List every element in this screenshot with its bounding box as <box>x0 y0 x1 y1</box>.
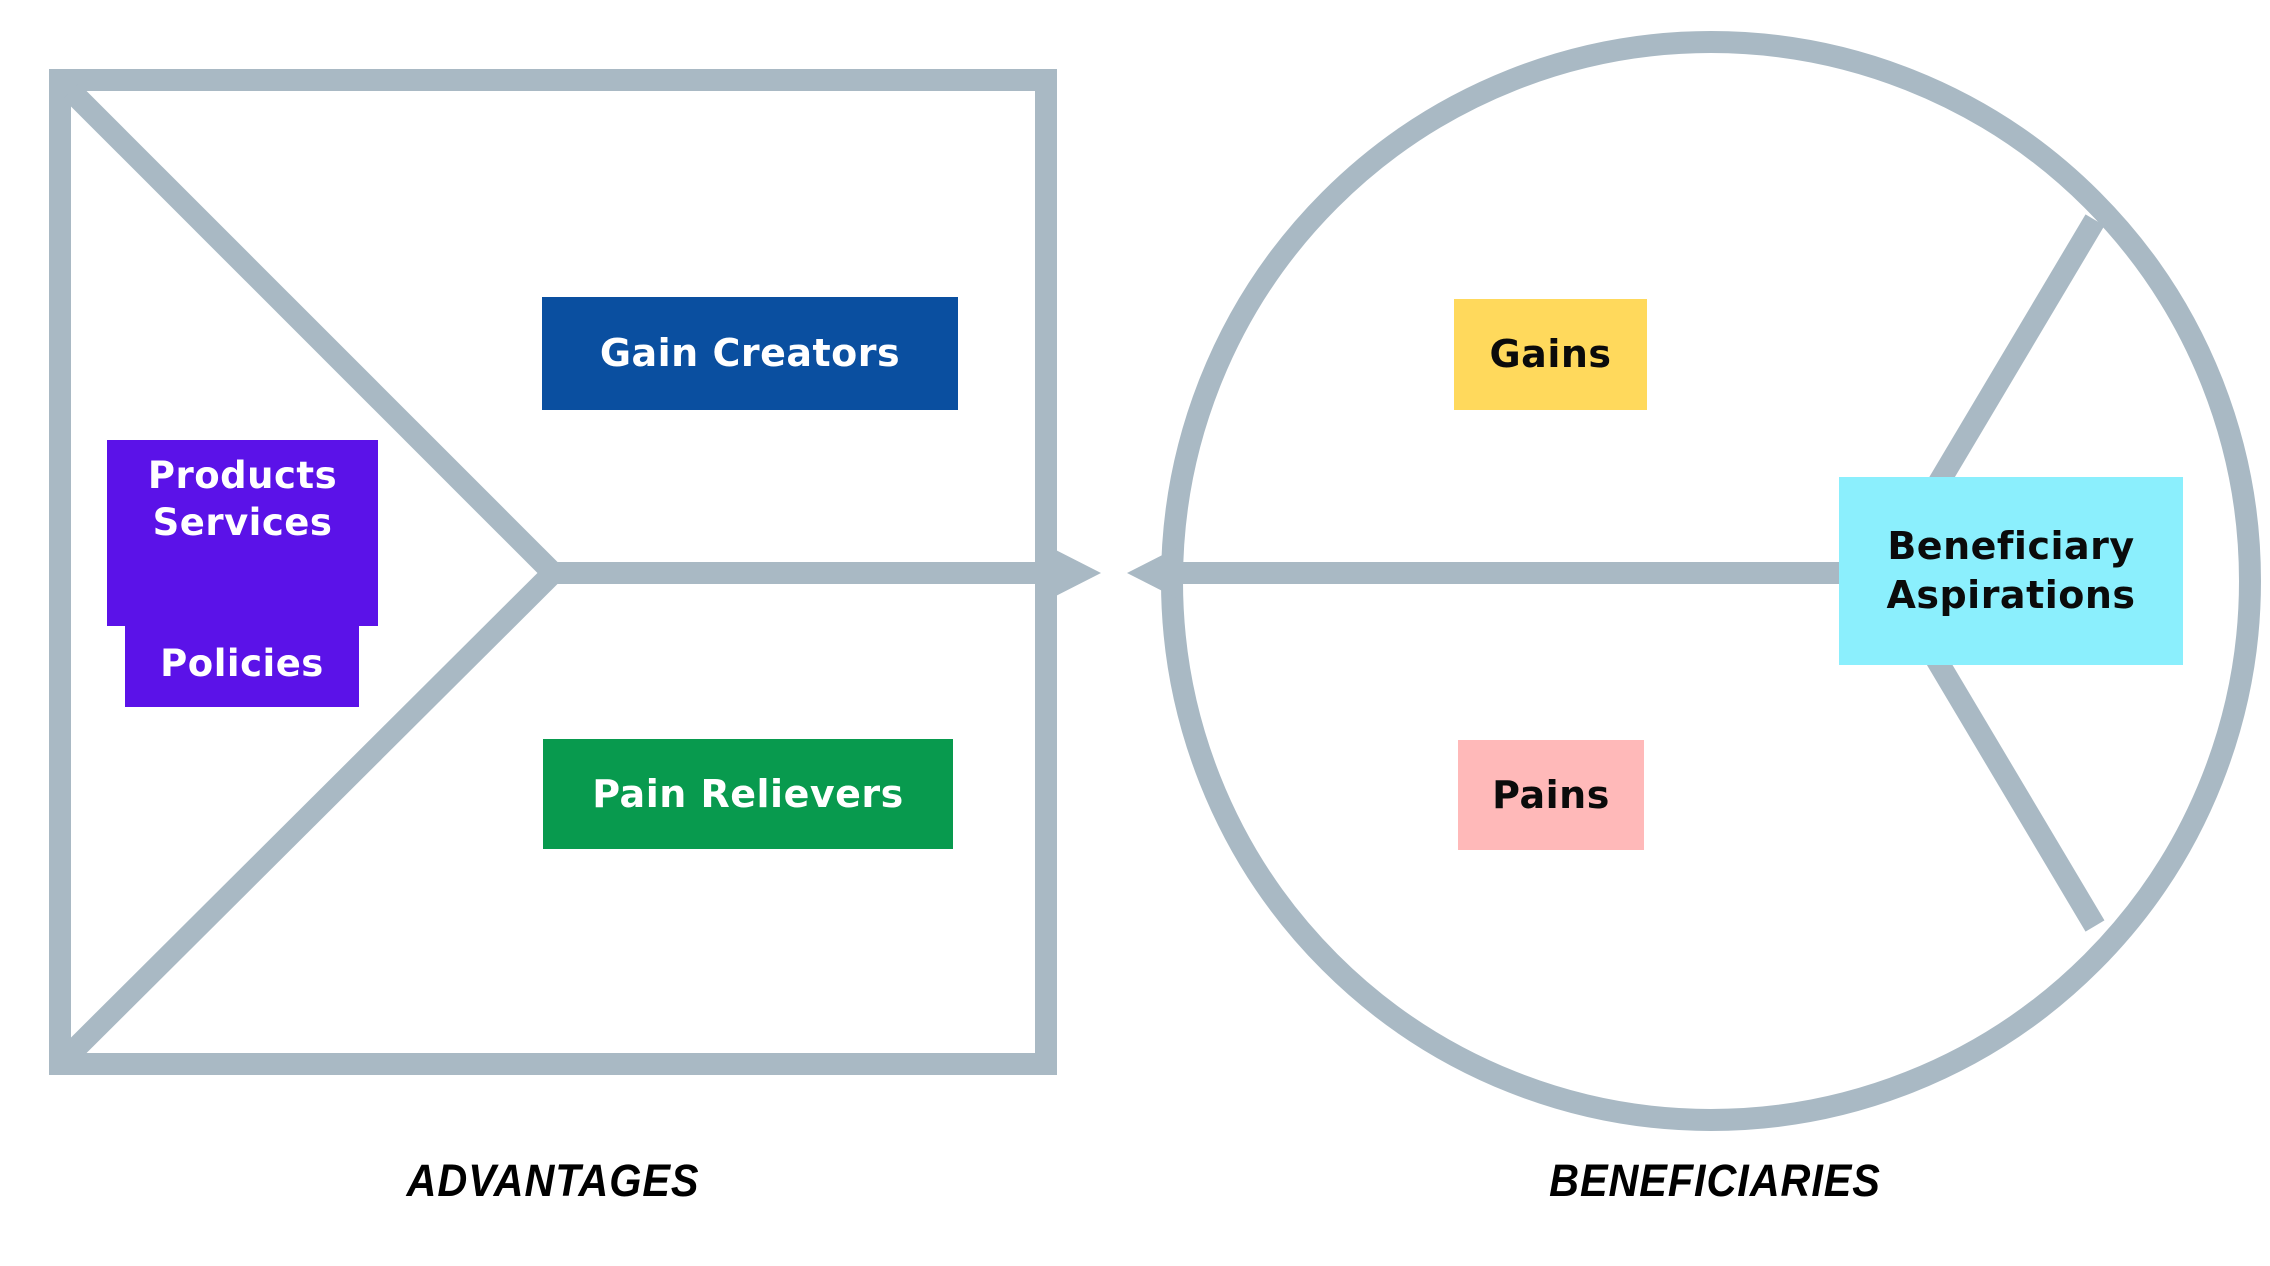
chip-line-products: Products <box>148 452 337 499</box>
chip-line-aspirations: Aspirations <box>1886 571 2135 620</box>
arrow-left-head-icon <box>1127 545 1182 601</box>
chip-gains[interactable]: Gains <box>1454 299 1647 410</box>
arrow-right-head-icon <box>1046 545 1101 601</box>
chip-pain-relievers[interactable]: Pain Relievers <box>543 739 953 849</box>
diagram-canvas: Products Services Policies Gain Creators… <box>0 0 2270 1266</box>
chip-pains[interactable]: Pains <box>1458 740 1644 850</box>
chip-policies[interactable]: Policies <box>125 620 359 707</box>
chip-gain-creators-label: Gain Creators <box>600 329 900 378</box>
chip-products-services[interactable]: Products Services <box>107 440 378 626</box>
chip-pain-relievers-label: Pain Relievers <box>592 770 904 819</box>
chip-line-beneficiary: Beneficiary <box>1887 522 2134 571</box>
chip-beneficiary-aspirations[interactable]: Beneficiary Aspirations <box>1839 477 2183 665</box>
chip-gain-creators[interactable]: Gain Creators <box>542 297 958 410</box>
chip-pains-label: Pains <box>1492 771 1610 820</box>
caption-advantages: ADVANTAGES <box>360 1155 746 1207</box>
chip-line-services: Services <box>153 499 333 546</box>
chip-gains-label: Gains <box>1489 330 1611 379</box>
chip-line-policies: Policies <box>160 640 324 687</box>
caption-beneficiaries: BENEFICIARIES <box>1490 1155 1941 1207</box>
